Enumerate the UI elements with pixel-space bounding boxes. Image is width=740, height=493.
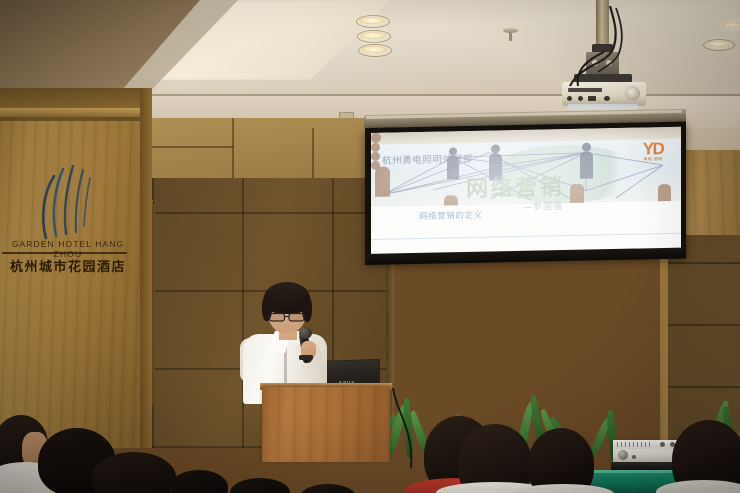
wood-cornice bbox=[0, 108, 152, 117]
projector-button[interactable] bbox=[632, 455, 636, 459]
downlight-ring bbox=[358, 44, 392, 57]
wristwatch bbox=[299, 355, 313, 360]
slide-organization-text: 杭州勇电照明外贸部 bbox=[382, 151, 473, 167]
audience-head bbox=[300, 484, 356, 493]
sprinkler-head-icon bbox=[503, 28, 518, 33]
presentation-slide: 杭州勇电照明外贸部 网络营销 —罗国强 网络营销的定义 YD 勇电·照明 bbox=[371, 127, 681, 258]
conference-room-photo: GARDEN HOTEL HANG ZHOU 杭州城市花园酒店 bbox=[0, 0, 740, 493]
audience-head bbox=[230, 478, 290, 493]
downlight-icon bbox=[722, 22, 740, 28]
audience-head bbox=[170, 470, 228, 493]
wood-wall-edge bbox=[140, 88, 152, 448]
downlight-ring bbox=[357, 30, 391, 43]
downlight-ring bbox=[356, 15, 390, 28]
audience-head bbox=[92, 452, 176, 493]
hotel-sign-rule bbox=[2, 252, 127, 254]
hotel-sign-chinese: 杭州城市花园酒店 bbox=[2, 256, 134, 275]
projector-port bbox=[578, 96, 583, 101]
projector-cables bbox=[548, 6, 638, 96]
panel-seam bbox=[152, 146, 234, 148]
company-logo: YD 勇电·照明 bbox=[632, 141, 674, 166]
garden-hotel-flame-logo-icon bbox=[36, 160, 92, 242]
person-silhouette-body bbox=[375, 167, 390, 197]
person-silhouette-body bbox=[580, 152, 593, 179]
wood-wall-header bbox=[0, 88, 152, 110]
projector-port bbox=[567, 96, 572, 101]
panel-seam bbox=[312, 128, 314, 180]
slide-title: 网络营销 bbox=[466, 169, 564, 203]
projector-port bbox=[588, 96, 596, 101]
podium-wood-grain bbox=[262, 387, 390, 462]
projector-button[interactable] bbox=[660, 442, 665, 447]
wood-cornice-shadow bbox=[0, 117, 152, 121]
logo-mark-text: YD bbox=[632, 141, 674, 157]
logo-subtext: 勇电·照明 bbox=[632, 156, 674, 163]
slide-subtitle: 网络营销的定义 bbox=[419, 209, 483, 222]
panel-seam bbox=[232, 118, 234, 180]
projector-port bbox=[604, 96, 610, 101]
slide-author: —罗国强 bbox=[523, 199, 563, 213]
wood-panel-upper bbox=[152, 118, 392, 180]
tabletop-projector-lens bbox=[618, 450, 628, 460]
projection-screen: 杭州勇电照明外贸部 网络营销 —罗国强 网络营销的定义 YD 勇电·照明 bbox=[371, 127, 681, 258]
downlight-ring bbox=[703, 39, 735, 51]
eyeglasses-icon bbox=[268, 312, 308, 322]
projector-vents bbox=[617, 442, 653, 447]
